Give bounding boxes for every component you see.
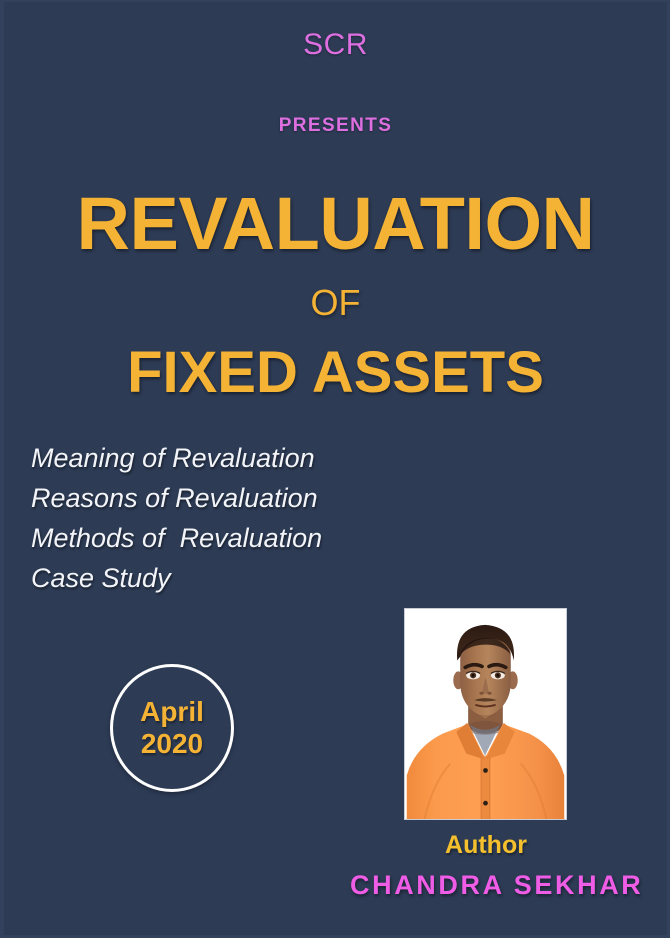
title-connector: OF [4,285,667,321]
author-label: Author [404,831,568,860]
presents-label: PRESENTS [4,115,667,137]
portrait-photo-icon [405,609,566,819]
list-item: Case Study [31,558,322,598]
author-photo [404,608,567,820]
date-badge: April 2020 [110,664,234,792]
poster-cover: SCR PRESENTS REVALUATION OF FIXED ASSETS… [0,0,670,938]
page-subtitle: FIXED ASSETS [4,344,667,402]
list-item: Meaning of Revaluation [31,438,322,478]
date-month: April [140,696,204,728]
page-title: REVALUATION [4,187,667,261]
date-year: 2020 [141,728,203,760]
brand-title: SCR [4,28,667,62]
topic-list: Meaning of Revaluation Reasons of Revalu… [31,438,322,598]
list-item: Methods of Revaluation [31,518,322,558]
list-item: Reasons of Revaluation [31,478,322,518]
author-name: CHANDRA SEKHAR [350,870,630,901]
